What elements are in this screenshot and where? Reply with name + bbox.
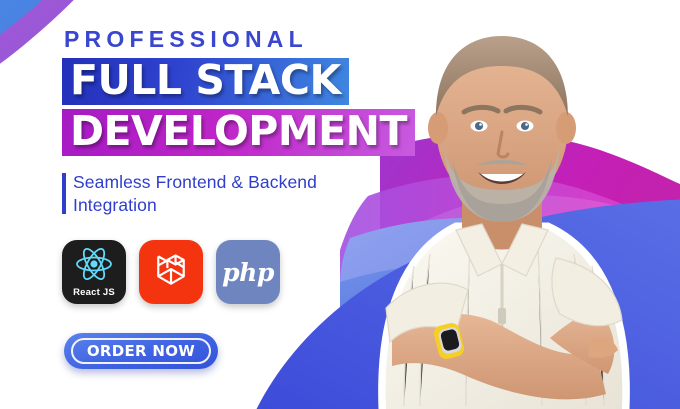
laravel-tech-badge[interactable] xyxy=(139,240,203,304)
php-wordmark-icon: php xyxy=(222,258,274,287)
service-banner: PROFESSIONAL FULL STACK DEVELOPMENT Seam… xyxy=(0,0,680,409)
headline-line1-text: FULL STACK xyxy=(70,60,341,101)
react-label: React JS xyxy=(73,287,115,298)
subtitle-text: Seamless Frontend & Backend Integration xyxy=(62,171,403,217)
headline-line1-wrap: FULL STACK xyxy=(62,58,462,105)
headline-line2-text: DEVELOPMENT xyxy=(70,111,407,152)
react-atom-icon xyxy=(75,247,113,286)
php-tech-badge[interactable]: php xyxy=(216,240,280,304)
headline-bar-blue: FULL STACK xyxy=(62,58,349,105)
react-tech-badge[interactable]: React JS xyxy=(62,240,126,304)
eyebrow-text: PROFESSIONAL xyxy=(64,28,462,51)
order-now-label: ORDER NOW xyxy=(87,342,195,360)
headline-line2-wrap: DEVELOPMENT xyxy=(62,109,462,156)
tech-stack-icons: React JS php xyxy=(62,240,280,304)
order-now-button[interactable]: ORDER NOW xyxy=(64,333,218,369)
headline-block: PROFESSIONAL FULL STACK DEVELOPMENT Seam… xyxy=(62,28,462,217)
laravel-logo-icon xyxy=(151,250,191,295)
headline-bar-magenta: DEVELOPMENT xyxy=(62,109,415,156)
